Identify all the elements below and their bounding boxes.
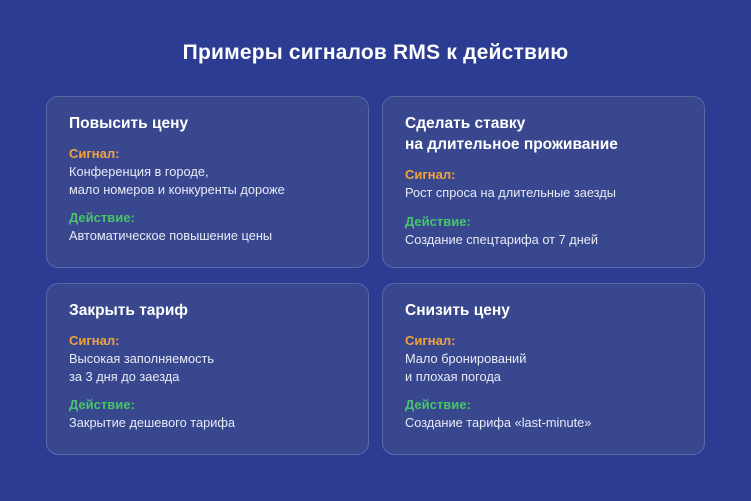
field-spacer	[405, 385, 682, 396]
signal-card: Сделать ставку на длительное проживание …	[382, 96, 705, 268]
page-title: Примеры сигналов RMS к действию	[0, 40, 751, 66]
action-label: Действие:	[69, 396, 346, 413]
signal-card: Повысить цену Сигнал: Конференция в горо…	[46, 96, 369, 268]
slide-root: Примеры сигналов RMS к действию Повысить…	[0, 0, 751, 501]
signal-label: Сигнал:	[69, 145, 346, 162]
signal-value: Мало бронирований и плохая погода	[405, 350, 682, 385]
action-value: Закрытие дешевого тарифа	[69, 414, 346, 432]
signal-value: Рост спроса на длительные заезды	[405, 184, 682, 202]
field-spacer	[69, 385, 346, 396]
signal-card: Снизить цену Сигнал: Мало бронирований и…	[382, 283, 705, 455]
card-title: Снизить цену	[405, 300, 682, 321]
card-title: Сделать ставку на длительное проживание	[405, 113, 682, 155]
signal-label: Сигнал:	[69, 332, 346, 349]
field-spacer	[405, 202, 682, 213]
action-label: Действие:	[405, 213, 682, 230]
card-title: Закрыть тариф	[69, 300, 346, 321]
card-title: Повысить цену	[69, 113, 346, 134]
signal-cards-grid: Повысить цену Сигнал: Конференция в горо…	[46, 96, 705, 455]
action-label: Действие:	[405, 396, 682, 413]
field-spacer	[69, 198, 346, 209]
signal-value: Высокая заполняемость за 3 дня до заезда	[69, 350, 346, 385]
signal-card: Закрыть тариф Сигнал: Высокая заполняемо…	[46, 283, 369, 455]
action-value: Создание спецтарифа от 7 дней	[405, 231, 682, 249]
action-value: Автоматическое повышение цены	[69, 227, 346, 245]
signal-value: Конференция в городе, мало номеров и кон…	[69, 163, 346, 198]
signal-label: Сигнал:	[405, 332, 682, 349]
action-value: Создание тарифа «last-minute»	[405, 414, 682, 432]
signal-label: Сигнал:	[405, 166, 682, 183]
action-label: Действие:	[69, 209, 346, 226]
